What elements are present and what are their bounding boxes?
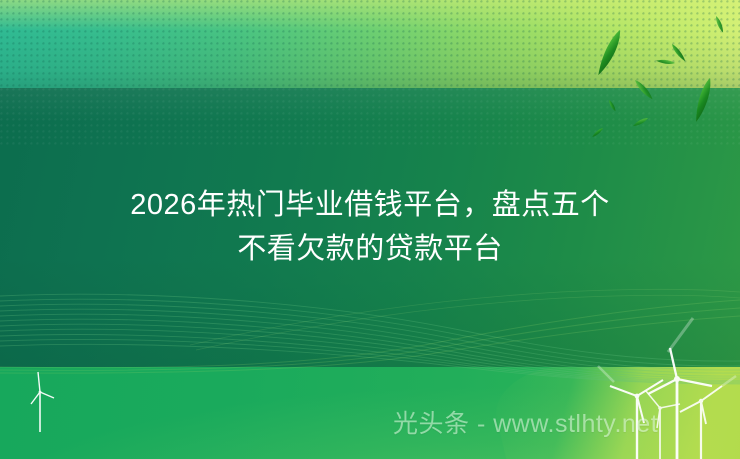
title-line-1: 2026年热门毕业借钱平台，盘点五个 bbox=[0, 183, 740, 227]
halftone-dot-pattern-middle bbox=[0, 88, 740, 148]
title-line-2: 不看欠款的贷款平台 bbox=[0, 227, 740, 271]
halftone-dot-pattern bbox=[0, 0, 740, 89]
banner-title: 2026年热门毕业借钱平台，盘点五个 不看欠款的贷款平台 bbox=[0, 183, 740, 271]
watermark-text: 光头条 - www.stlhty.net bbox=[393, 407, 658, 441]
promotional-banner: 2026年热门毕业借钱平台，盘点五个 不看欠款的贷款平台 光头条 - www.s… bbox=[0, 0, 740, 459]
